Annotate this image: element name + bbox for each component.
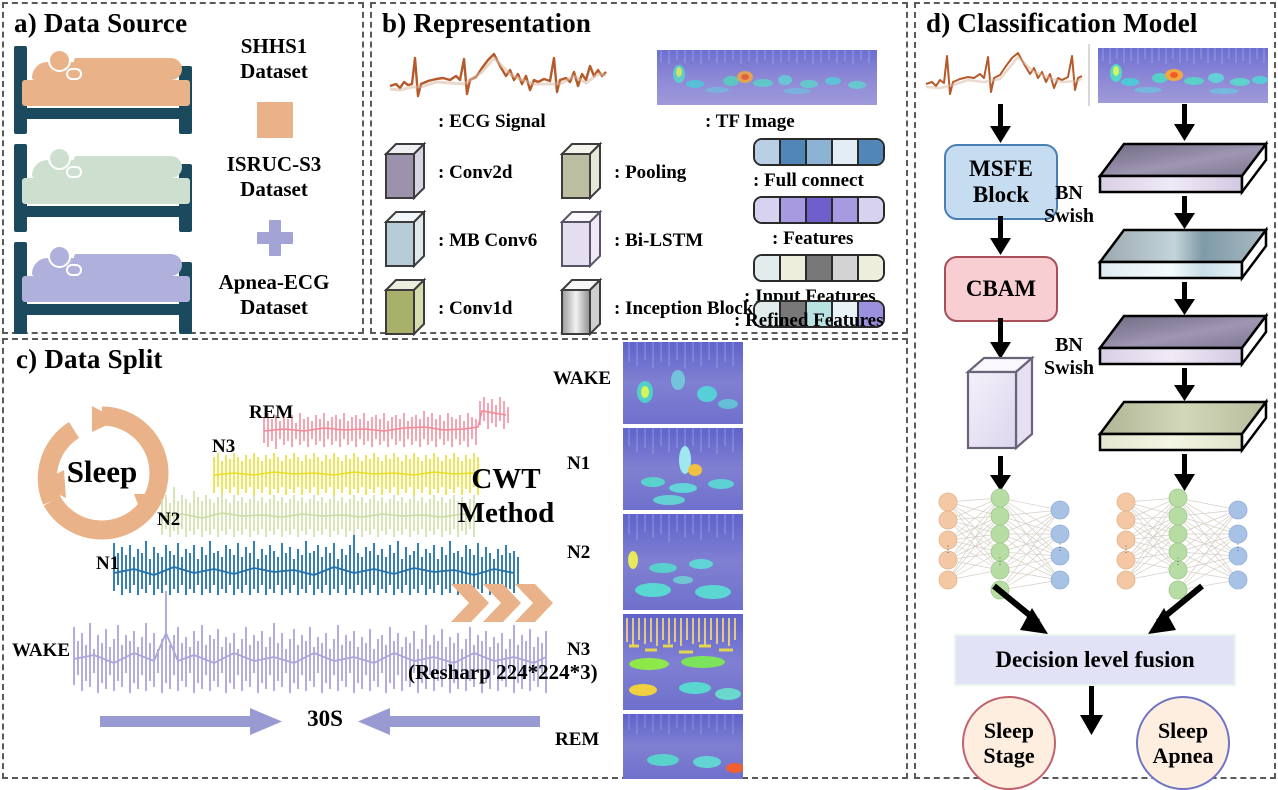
feature-bar-input-features (753, 254, 885, 282)
arrow-bilstm-to-network (988, 456, 1014, 492)
dataset-shhs1-line2: Dataset (199, 59, 349, 84)
spectrogram-n2 (623, 514, 743, 610)
panel-d-title: d) Classification Model (926, 8, 1198, 39)
feature-bar-features (753, 196, 885, 224)
slab-icon-pooling (560, 142, 602, 200)
slab-icon-mbconv6 (384, 210, 426, 268)
ecg-waveform-icon (924, 46, 1084, 104)
pooling-layer-slab (1096, 398, 1271, 456)
plus-icon (257, 220, 293, 256)
duration-label: 30S (295, 706, 355, 732)
svg-text:⋮: ⋮ (1056, 542, 1065, 552)
bed-illustration-apnea (14, 242, 204, 334)
legend-label-conv1d: : Conv1d (438, 298, 512, 320)
stage-label-n2: N2 (157, 509, 180, 531)
stage-label-n3: N3 (212, 436, 235, 458)
slab-icon-bilstm (560, 210, 602, 268)
arrow-layer4-to-network (1172, 454, 1198, 492)
cwt-line2: Method (441, 496, 571, 530)
arrow-left-net-to-fusion (990, 582, 1060, 638)
dataset-shhs1-line1: SHHS1 (199, 34, 349, 59)
bed-rail (14, 304, 192, 315)
arrow-fusion-to-outputs (1078, 686, 1108, 736)
tf-spectrogram-icon (1098, 48, 1268, 103)
legend-label-conv2d: : Conv2d (438, 162, 512, 184)
cwt-method-label: CWT Method (441, 462, 571, 530)
bed-rail (14, 206, 192, 217)
spectrogram-wake (623, 342, 743, 424)
cwt-line1: CWT (441, 462, 571, 496)
dataset-name-isruc: ISRUC-S3 Dataset (199, 152, 349, 202)
swish-label-2: Swish (1034, 357, 1104, 380)
sleep-apnea-line1: Sleep (1152, 718, 1213, 743)
chevron-arrows-icon (449, 580, 569, 626)
ecg-signal-legend-label: : ECG Signal (438, 111, 546, 133)
panel-b-title: b) Representation (382, 8, 591, 39)
tf-image-legend-label: : TF Image (705, 111, 795, 133)
bed-mattress (22, 276, 190, 302)
feature-label-features: : Features (772, 228, 853, 250)
spectrogram-column (623, 342, 743, 779)
feature-label-full-connect: : Full connect (753, 170, 864, 192)
arrow-ecg-to-msfe (988, 104, 1014, 144)
output-sleep-apnea[interactable]: Sleep Apnea (1136, 696, 1230, 790)
stage-label-n1: N1 (96, 553, 119, 575)
slab-icon-conv1d (384, 278, 426, 336)
legend-label-inception: : Inception Block (614, 298, 753, 320)
feature-bar-full-connect (753, 138, 885, 166)
sleep-apnea-line2: Apnea (1152, 743, 1213, 768)
slab-icon-inception (560, 278, 602, 336)
spec-label-n3: N3 (567, 639, 590, 661)
arrow-right-net-to-fusion (1138, 582, 1208, 638)
dataset-apnea-line1: Apnea-ECG (199, 270, 349, 295)
sleep-stage-line1: Sleep (983, 718, 1034, 743)
sleep-stage-line2: Stage (983, 743, 1034, 768)
svg-text:⋮: ⋮ (1122, 544, 1131, 554)
person-legs (74, 156, 182, 178)
signal-n3 (214, 453, 478, 495)
signal-rem (264, 397, 508, 449)
svg-text:⋮: ⋮ (1174, 556, 1183, 566)
bed-mattress (22, 80, 190, 106)
conv2d-layer-slab (1096, 140, 1271, 198)
bn-swish-label-2: BN Swish (1034, 334, 1104, 380)
swish-label-1: Swish (1034, 205, 1104, 228)
panel-data-source: a) Data Source SHHS1 Dataset (2, 2, 364, 334)
stage-label-rem: REM (249, 402, 293, 424)
bed-rail (14, 108, 192, 119)
arrow-layer1-to-layer2 (1172, 196, 1198, 230)
spectrogram-n3 (623, 614, 743, 710)
feature-label-refined-features: : Refined Features (734, 310, 884, 332)
bed-illustration-isruc (14, 144, 204, 236)
spectrogram-n1 (623, 428, 743, 510)
spec-label-n2: N2 (567, 542, 590, 564)
cbam-label: CBAM (966, 276, 1036, 302)
svg-text:⋮: ⋮ (996, 556, 1005, 566)
input-divider (1088, 44, 1090, 106)
cbam-block[interactable]: CBAM (944, 256, 1058, 322)
spec-label-wake: WAKE (553, 368, 611, 390)
bed-mattress (22, 178, 190, 204)
dataset-name-shhs1: SHHS1 Dataset (199, 34, 349, 84)
fusion-label: Decision level fusion (995, 647, 1194, 673)
bn-swish-label-1: BN Swish (1034, 182, 1104, 228)
panel-representation: b) Representation : ECG Signal (370, 2, 908, 334)
msfe-line2: Block (969, 182, 1033, 208)
tf-spectrogram-icon (657, 50, 877, 105)
dataset-name-apnea: Apnea-ECG Dataset (199, 270, 349, 320)
spec-label-n1: N1 (567, 453, 590, 475)
panel-classification-model: d) Classification Model (914, 2, 1276, 779)
bi-lstm-slab-icon (962, 356, 1038, 456)
slab-icon-conv2d (384, 142, 426, 200)
reshape-note: (Resharp 224*224*3) (408, 660, 598, 685)
dataset-isruc-line1: ISRUC-S3 (199, 152, 349, 177)
dataset-isruc-line2: Dataset (199, 177, 349, 202)
panel-c-title: c) Data Split (16, 344, 163, 375)
legend-label-bilstm: : Bi-LSTM (614, 230, 703, 252)
dataset-apnea-line2: Dataset (199, 295, 349, 320)
panel-data-split: c) Data Split Sleep WAK (2, 338, 908, 779)
legend-label-mbconv6: : MB Conv6 (438, 230, 537, 252)
arrow-tf-to-layer1 (1172, 104, 1198, 142)
person-legs (74, 58, 182, 80)
output-sleep-stage[interactable]: Sleep Stage (962, 696, 1056, 790)
arrow-cbam-to-bilstm (988, 318, 1014, 360)
msfe-line1: MSFE (969, 156, 1033, 182)
decision-level-fusion-box[interactable]: Decision level fusion (954, 634, 1236, 686)
mbconv6-layer-slab (1096, 226, 1271, 284)
stage-label-wake: WAKE (12, 640, 70, 662)
svg-text:⋮: ⋮ (1234, 542, 1243, 552)
person-arm (66, 68, 82, 80)
person-legs (74, 254, 182, 276)
legend-label-pooling: : Pooling (614, 162, 686, 184)
spectrogram-rem (623, 714, 743, 779)
bed-illustration-shhs1 (14, 46, 204, 138)
plus-icon (257, 102, 293, 138)
arrow-layer3-to-layer4 (1172, 368, 1198, 402)
ecg-waveform-icon (388, 46, 608, 108)
panel-a-title: a) Data Source (14, 8, 187, 39)
person-arm (66, 264, 82, 276)
bn-label-2: BN (1034, 334, 1104, 357)
person-arm (66, 166, 82, 178)
arrow-layer2-to-layer3 (1172, 282, 1198, 316)
arrow-msfe-to-cbam (988, 216, 1014, 256)
svg-text:⋮: ⋮ (944, 544, 953, 554)
spec-label-rem: REM (555, 729, 599, 751)
bn-label-1: BN (1034, 182, 1104, 205)
conv2d-layer-slab-2 (1096, 312, 1271, 370)
